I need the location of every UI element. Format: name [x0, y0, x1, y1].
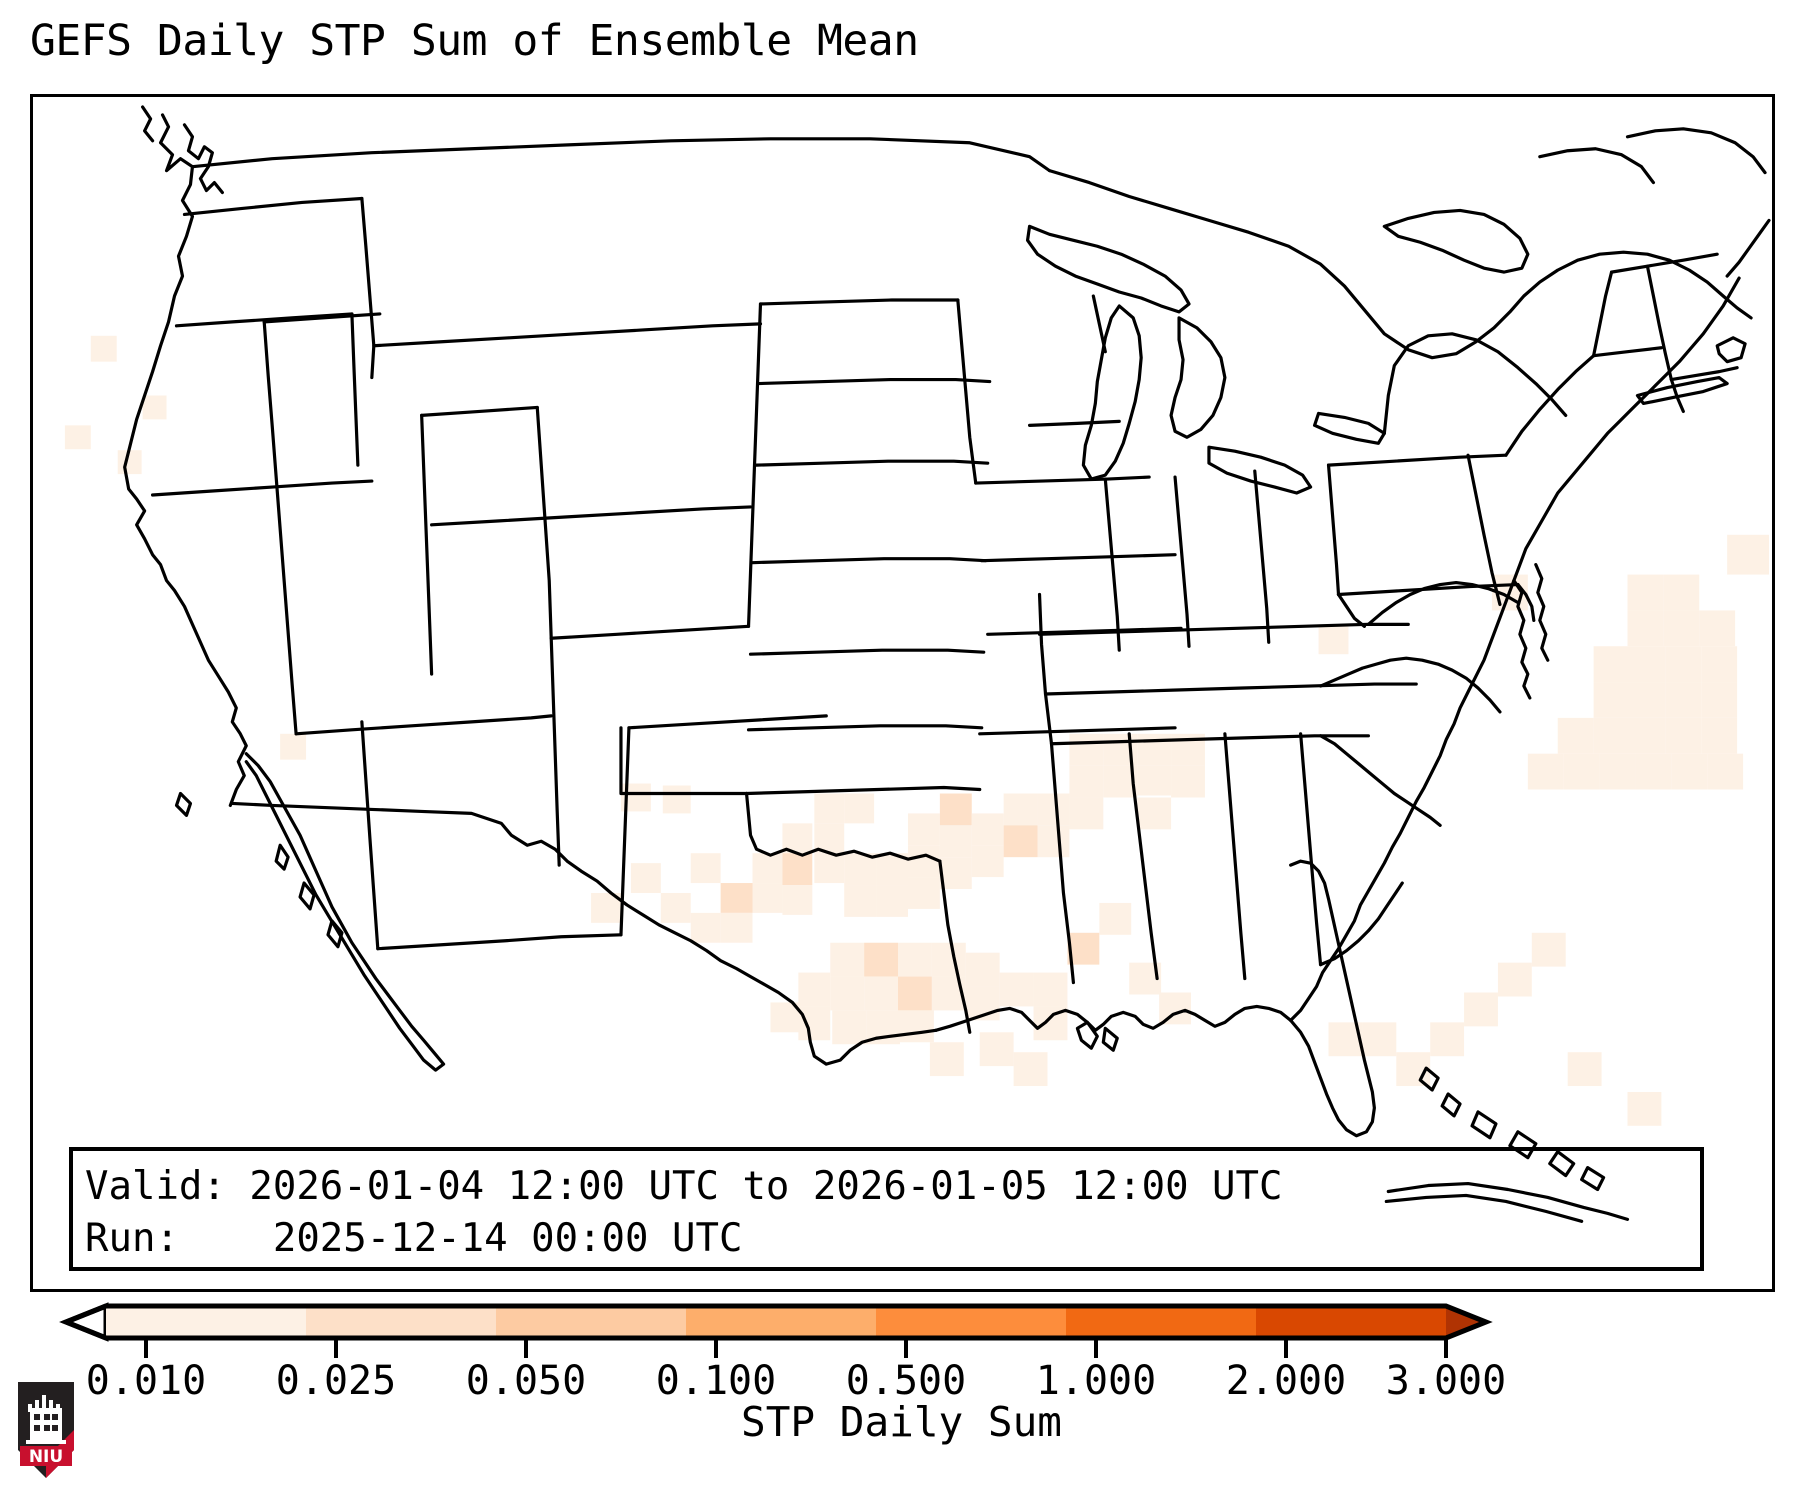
page-title: GEFS Daily STP Sum of Ensemble Mean: [30, 16, 919, 66]
colorbar-bands: [66, 1306, 1486, 1358]
niu-banner-text: NIU: [29, 1447, 63, 1467]
valid-time-line: Valid: 2026-01-04 12:00 UTC to 2026-01-0…: [85, 1161, 1700, 1213]
map-frame: Valid: 2026-01-04 12:00 UTC to 2026-01-0…: [30, 94, 1775, 1292]
map-canvas: [33, 97, 1772, 1289]
colorbar-axis-label: STP Daily Sum: [0, 1398, 1803, 1446]
colorbar-ticks: [146, 1338, 1446, 1358]
info-box: Valid: 2026-01-04 12:00 UTC to 2026-01-0…: [69, 1147, 1704, 1271]
run-time-line: Run: 2025-12-14 00:00 UTC: [85, 1213, 1700, 1265]
niu-logo: NIU: [14, 1378, 78, 1482]
colorbar: 0.010 0.025 0.050 0.100 0.500 1.000 2.00…: [0, 1300, 1803, 1500]
